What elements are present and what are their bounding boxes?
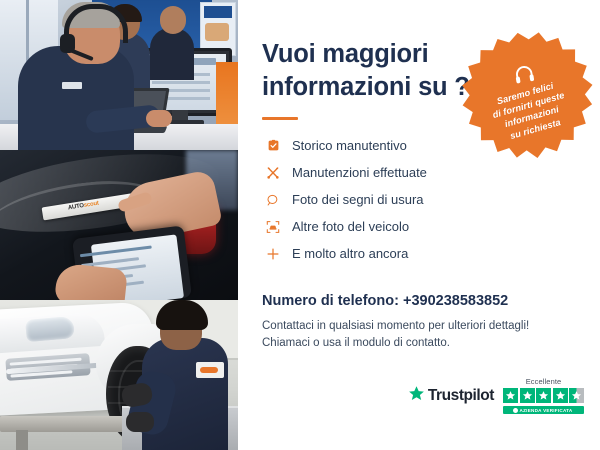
star-icon [536, 388, 551, 403]
star-icon [503, 388, 518, 403]
list-item-label: Altre foto del veicolo [292, 219, 409, 234]
trustpilot-rating[interactable]: Trustpilot Eccellente [408, 377, 584, 414]
crossed-tools-icon [262, 166, 284, 180]
verified-check-icon [513, 408, 518, 413]
trustpilot-star-icon [408, 385, 425, 407]
half-star-icon [569, 388, 584, 403]
mechanic-glove-lower [126, 412, 154, 432]
clipboard-check-icon [262, 139, 284, 152]
contact-line-1: Contattaci in qualsiasi momento per ulte… [262, 318, 578, 335]
agent-hand [146, 110, 172, 127]
trustpilot-wordmark: Trustpilot [428, 387, 494, 405]
star-icon [520, 388, 535, 403]
content-panel: Vuoi maggiori informazioni su ? Storico … [238, 0, 600, 450]
uniform-badge [196, 362, 224, 378]
inspector-hand-lower [54, 262, 128, 300]
page-title: Vuoi maggiori informazioni su ? [262, 38, 482, 103]
badge-content: Saremo felici di fornirti queste informa… [452, 22, 600, 173]
car-frame-icon [262, 220, 284, 234]
on-request-badge: Saremo felici di fornirti queste informa… [452, 22, 600, 173]
list-item-label: Storico manutentivo [292, 138, 407, 153]
trustpilot-logo: Trustpilot [408, 385, 494, 407]
plus-icon [262, 247, 284, 261]
badge-text: Saremo felici di fornirti queste informa… [488, 78, 573, 146]
list-item: E molto altro ancora [262, 240, 578, 267]
contact-line-2: Chiamaci o usa il modulo di contatto. [262, 335, 578, 352]
lift-leg [16, 430, 28, 450]
list-item: Foto dei segni di usura [262, 186, 578, 213]
list-item-label: E molto altro ancora [292, 246, 408, 261]
star-icon [553, 388, 568, 403]
list-item-label: Foto dei segni di usura [292, 192, 424, 207]
magnifier-icon [262, 193, 284, 207]
trustpilot-score-block: Eccellente [503, 377, 584, 414]
agent-body [18, 46, 134, 150]
list-item: Altre foto del veicolo [262, 213, 578, 240]
verified-business-badge: AZIENDA VERIFICATA [503, 406, 584, 414]
damage-inspection-photo: AUTOscout [0, 150, 238, 300]
photo-column: AUTOscout [0, 0, 238, 450]
headline-line-2: informazioni su ? [262, 73, 470, 101]
promo-banner: AUTOscout [0, 0, 600, 450]
call-centre-agent-photo [0, 0, 238, 150]
headline-line-1: Vuoi maggiori [262, 40, 428, 68]
coworker-background [150, 28, 194, 80]
mechanic-wheel-photo [0, 300, 238, 450]
trustpilot-rating-label: Eccellente [526, 377, 562, 386]
list-item-label: Manutenzioni effettuate [292, 165, 427, 180]
headset-icon [512, 63, 537, 86]
trustpilot-stars [503, 388, 584, 403]
contact-instructions: Contattaci in qualsiasi momento per ulte… [262, 318, 578, 352]
polo-logo [62, 82, 82, 89]
car-headlight [25, 316, 75, 342]
title-divider [262, 117, 298, 120]
verified-label: AZIENDA VERIFICATA [520, 408, 573, 413]
phone-number[interactable]: Numero di telefono: +390238583852 [262, 293, 578, 309]
